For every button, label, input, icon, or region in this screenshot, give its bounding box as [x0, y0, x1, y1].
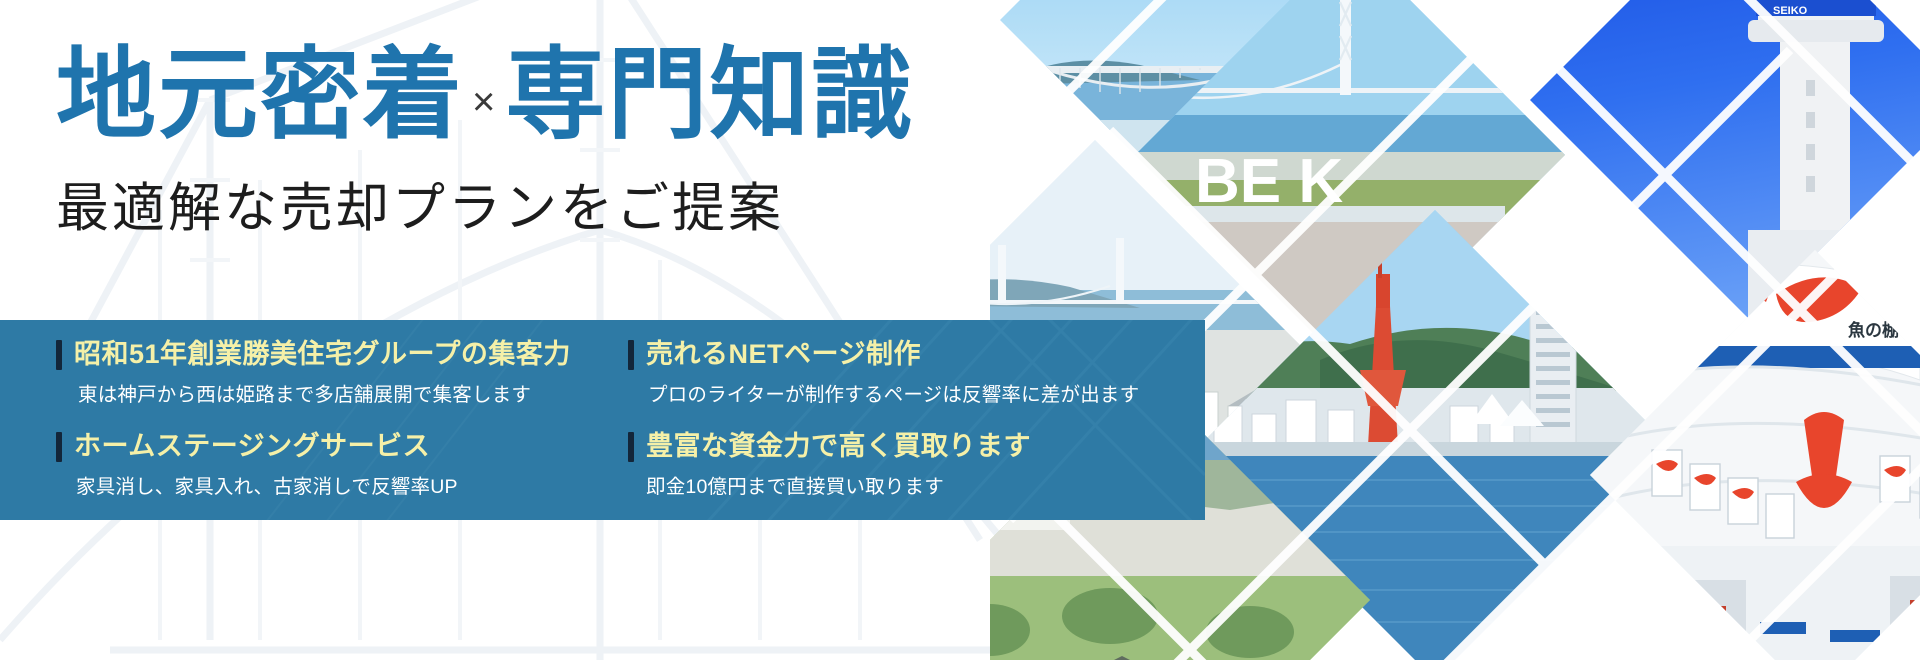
feature-3-title: ホームステージングサービス	[74, 432, 430, 462]
feature-item-1: 昭和51年創業勝美住宅グループの集客力 東は神戸から西は姫路まで多店舗展開で集客…	[56, 340, 571, 407]
headline-part2: 専門知識	[505, 40, 913, 152]
feature-2-head: 売れるNETページ制作	[628, 340, 1139, 370]
feature-1-head: 昭和51年創業勝美住宅グループの集客力	[56, 340, 571, 370]
hero-banner: BE K 12 J.S.T.M. SEIKO	[0, 0, 1920, 660]
accent-bar-icon	[56, 432, 62, 462]
feature-2-title: 売れるNETページ制作	[646, 340, 921, 370]
feature-1-subtitle: 東は神戸から西は姫路まで多店舗展開で集客します	[78, 378, 571, 407]
feature-4-subtitle: 即金10億円まで直接買い取ります	[646, 470, 1031, 499]
feature-1-title: 昭和51年創業勝美住宅グループの集客力	[74, 340, 571, 370]
headline-separator: ×	[472, 80, 497, 125]
feature-4-head: 豊富な資金力で高く買取ります	[628, 432, 1031, 462]
feature-item-3: ホームステージングサービス 家具消し、家具入れ、古家消しで反響率UP	[56, 432, 458, 499]
headline-subtitle: 最適解な売却プランをご提案	[56, 166, 1096, 242]
feature-3-head: ホームステージングサービス	[56, 432, 458, 462]
accent-bar-icon	[628, 432, 634, 462]
feature-3-subtitle: 家具消し、家具入れ、古家消しで反響率UP	[76, 470, 458, 499]
headline-main: 地元密着 × 専門知識	[56, 40, 1096, 152]
accent-bar-icon	[628, 340, 634, 370]
feature-item-4: 豊富な資金力で高く買取ります 即金10億円まで直接買い取ります	[628, 432, 1031, 499]
accent-bar-icon	[56, 340, 62, 370]
feature-2-subtitle: プロのライターが制作するページは反響率に差が出ます	[648, 378, 1139, 407]
headline-block: 地元密着 × 専門知識 最適解な売却プランをご提案	[56, 40, 1096, 242]
headline-part1: 地元密着	[56, 40, 464, 152]
feature-band: 昭和51年創業勝美住宅グループの集客力 東は神戸から西は姫路まで多店舗展開で集客…	[0, 320, 1205, 520]
feature-item-2: 売れるNETページ制作 プロのライターが制作するページは反響率に差が出ます	[628, 340, 1139, 407]
feature-4-title: 豊富な資金力で高く買取ります	[646, 432, 1031, 462]
